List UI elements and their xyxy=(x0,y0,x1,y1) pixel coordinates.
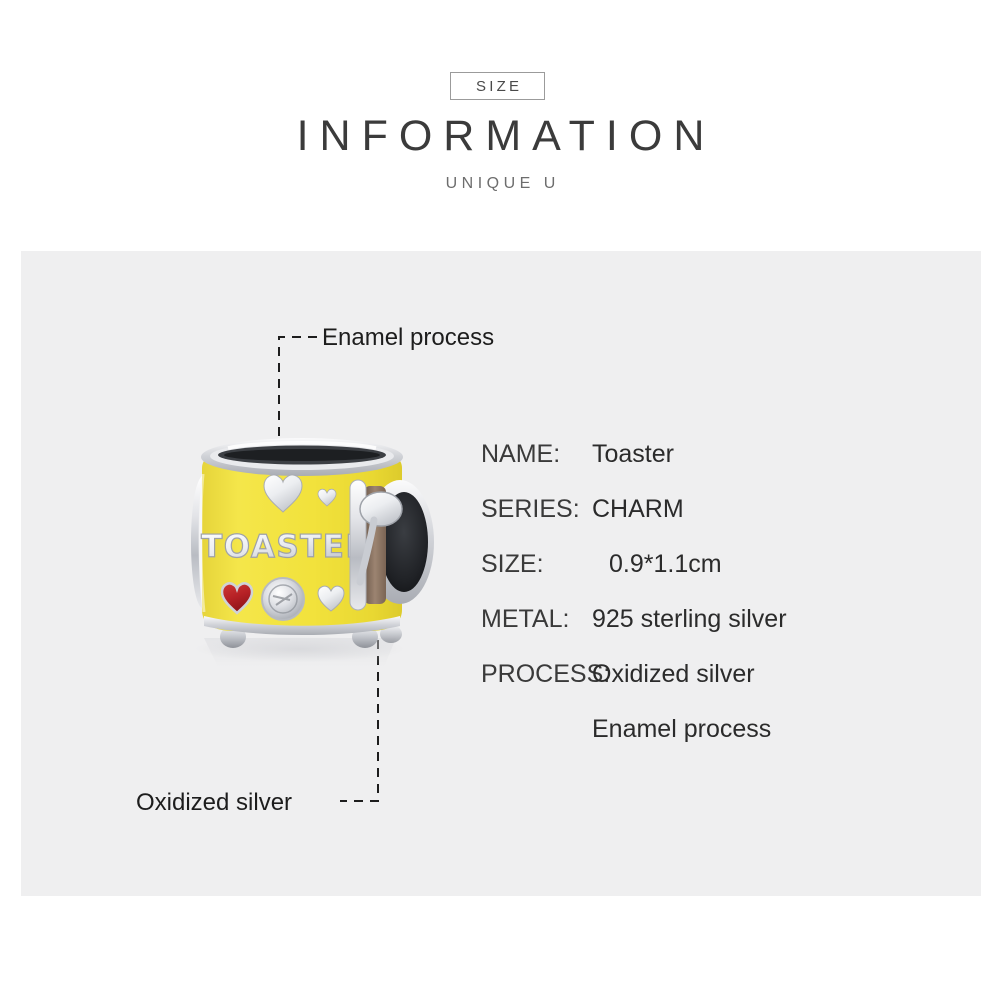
spec-value-process: Oxidized silver xyxy=(592,660,755,689)
charm-lever-knob xyxy=(360,492,402,526)
spec-value-size: 0.9*1.1cm xyxy=(592,550,722,579)
spec-label-metal: METAL: xyxy=(481,605,592,634)
spec-value-series: CHARM xyxy=(592,495,684,524)
callout-label-oxidized-silver: Oxidized silver xyxy=(136,789,292,817)
spec-row-series: SERIES: CHARM xyxy=(481,495,901,550)
charm-lettering-toaster: TOASTER xyxy=(201,529,371,565)
spec-value-name: Toaster xyxy=(592,440,674,469)
spec-label-name: NAME: xyxy=(481,440,592,469)
product-spec-list: NAME: Toaster SERIES: CHARM SIZE: 0.9*1.… xyxy=(481,440,901,770)
spec-row-process: PROCESS: Oxidized silver xyxy=(481,660,901,715)
spec-row-metal: METAL: 925 sterling silver xyxy=(481,605,901,660)
spec-row-size: SIZE: 0.9*1.1cm xyxy=(481,550,901,605)
callout-label-enamel-process: Enamel process xyxy=(322,324,494,352)
charm-toast-slot-inner xyxy=(224,449,380,461)
spec-row-process-continued: Enamel process xyxy=(481,715,901,770)
spec-label-process: PROCESS: xyxy=(481,660,592,689)
spec-value-process-continued: Enamel process xyxy=(592,715,771,744)
spec-row-name: NAME: Toaster xyxy=(481,440,901,495)
spec-label-size: SIZE: xyxy=(481,550,592,579)
spec-label-series: SERIES: xyxy=(481,495,592,524)
product-image-toaster-charm: TOASTER xyxy=(178,424,438,674)
spec-value-metal: 925 sterling silver xyxy=(592,605,787,634)
